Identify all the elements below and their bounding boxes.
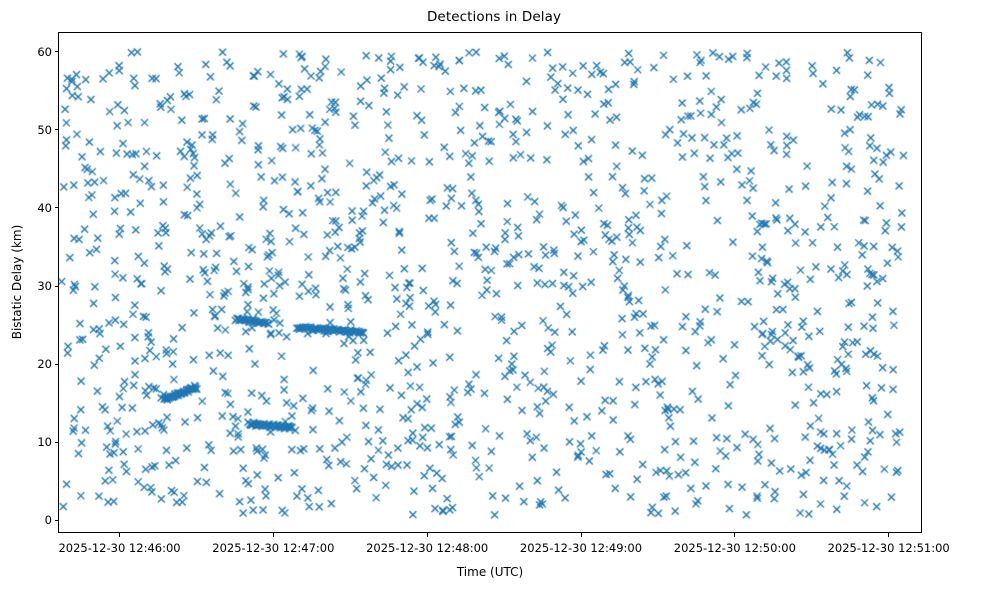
y-tick-mark	[55, 364, 59, 365]
x-axis-label: Time (UTC)	[58, 565, 922, 579]
y-tick-mark	[55, 51, 59, 52]
matplotlib-figure: Detections in Delay Bistatic Delay (km) …	[0, 0, 988, 590]
x-tick-mark	[734, 533, 735, 537]
x-tick-label: 2025-12-30 12:46:00	[58, 541, 180, 555]
x-tick-mark	[273, 533, 274, 537]
scatter-canvas	[59, 33, 921, 532]
y-tick-label: 20	[10, 357, 52, 371]
x-tick-mark	[427, 533, 428, 537]
y-tick-mark	[55, 129, 59, 130]
y-tick-mark	[55, 286, 59, 287]
y-tick-label: 0	[10, 513, 52, 527]
x-tick-label: 2025-12-30 12:51:00	[828, 541, 950, 555]
y-tick-mark	[55, 520, 59, 521]
x-tick-mark	[119, 533, 120, 537]
y-tick-mark	[55, 442, 59, 443]
x-tick-label: 2025-12-30 12:49:00	[520, 541, 642, 555]
x-tick-label: 2025-12-30 12:47:00	[212, 541, 334, 555]
plot-area	[58, 32, 922, 533]
x-tick-mark	[581, 533, 582, 537]
y-tick-mark	[55, 207, 59, 208]
page-title: Detections in Delay	[0, 9, 988, 25]
y-tick-label: 50	[10, 123, 52, 137]
x-tick-label: 2025-12-30 12:48:00	[366, 541, 488, 555]
y-tick-label: 10	[10, 435, 52, 449]
x-tick-label: 2025-12-30 12:50:00	[674, 541, 796, 555]
x-tick-mark	[888, 533, 889, 537]
y-tick-label: 60	[10, 45, 52, 59]
y-tick-label: 30	[10, 279, 52, 293]
y-tick-label: 40	[10, 201, 52, 215]
